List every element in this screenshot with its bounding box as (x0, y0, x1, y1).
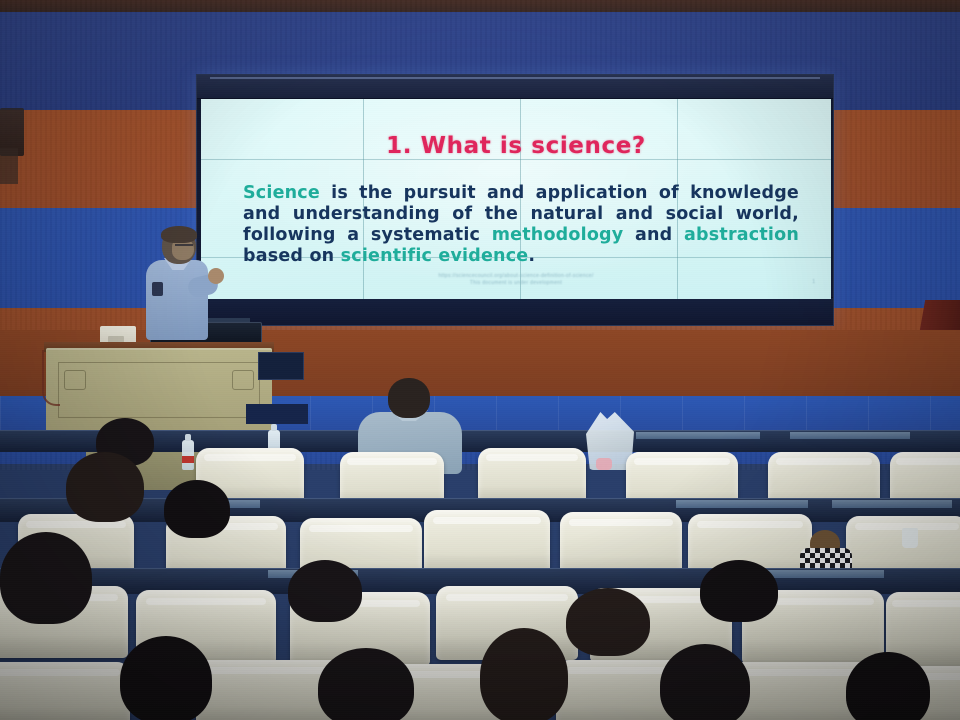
audience-head (846, 652, 930, 720)
desk-glow-3 (676, 500, 808, 508)
seat (478, 448, 586, 504)
slide-text-3: based on (243, 246, 341, 266)
seat (560, 512, 682, 576)
slide-body-text: Science is the pursuit and application o… (243, 183, 799, 267)
wall-speaker-lower (0, 148, 18, 184)
podium-emblem-left (64, 370, 86, 390)
podium-emblem-right (232, 370, 254, 390)
audience-head (66, 452, 144, 522)
slide-page-number: 1 (812, 279, 815, 285)
audience-head (120, 636, 212, 720)
slide-footer: https://sciencecouncil.org/about-science… (201, 273, 831, 287)
desk-glow-4 (832, 500, 952, 508)
presenter-torso (146, 260, 208, 340)
presentation-slide: 1. What is science? Science is the pursu… (201, 99, 831, 299)
slide-title: 1. What is science? (201, 133, 831, 159)
audience-head (0, 532, 92, 624)
presenter-hair (161, 226, 197, 243)
audience-head (288, 560, 362, 622)
slide-term-abstraction: abstraction (684, 225, 799, 245)
audience-head (660, 644, 750, 720)
audience-head (566, 588, 650, 656)
screen-bottom-bezel (197, 297, 833, 325)
slide-text-2: and (623, 225, 684, 245)
presenter-hand (208, 268, 224, 284)
screen-highlight (210, 77, 821, 79)
slide-footer-line-1: https://sciencecouncil.org/about-science… (201, 273, 831, 280)
desk-glow-6 (756, 570, 884, 578)
slide-term-methodology: methodology (492, 225, 624, 245)
audience-head (318, 648, 414, 720)
side-table (258, 352, 304, 380)
screen-top-bezel (197, 75, 833, 99)
desk-glow-2 (790, 432, 910, 439)
podium-front-panel (58, 362, 260, 418)
presenter-badge (152, 282, 163, 296)
slide-term-science: Science (243, 183, 320, 203)
bottle-label-1 (182, 456, 194, 463)
slide-text-4: . (528, 246, 535, 266)
side-table-lower (246, 404, 308, 424)
bag-contents (596, 458, 612, 470)
audience-head (700, 560, 778, 622)
audience-head (480, 628, 568, 720)
lecture-hall-photo: 1. What is science? Science is the pursu… (0, 0, 960, 720)
attendee-head (388, 378, 430, 418)
desk-glow-1 (636, 432, 760, 439)
presenter-glasses (175, 244, 193, 249)
cup-on-armrest (902, 528, 918, 548)
projection-screen: 1. What is science? Science is the pursu… (196, 74, 834, 326)
seat (0, 662, 130, 720)
slide-footer-line-2: This document is under development (201, 280, 831, 287)
panel-seam-h1 (201, 159, 831, 160)
water-bottle-1 (182, 440, 194, 470)
presenter (142, 228, 216, 340)
audience-head (164, 480, 230, 538)
seat (424, 510, 550, 574)
microphone-cable (42, 350, 60, 406)
slide-term-scientific-evidence: scientific evidence (341, 246, 529, 266)
